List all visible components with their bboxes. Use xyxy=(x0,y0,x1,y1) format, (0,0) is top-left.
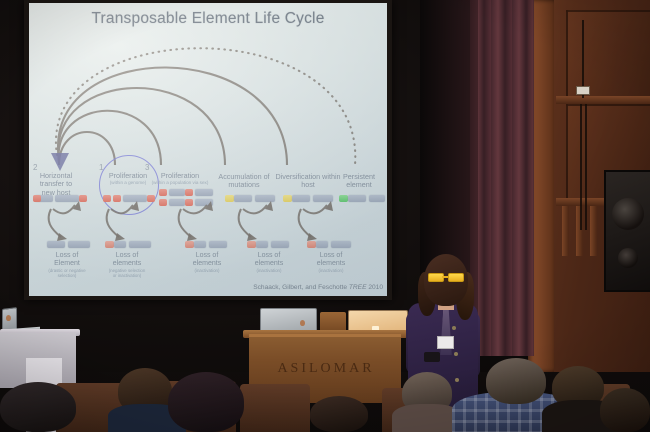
projection-screen: Transposable Element Life Cycle 2 Horizo… xyxy=(29,3,387,296)
podium-venue-name: ASILOMAR xyxy=(262,354,390,384)
audience-head xyxy=(600,388,650,432)
chromosome-bar xyxy=(316,241,328,248)
speaker-tweeter-icon xyxy=(618,248,638,268)
hanging-cable-3 xyxy=(585,104,587,230)
outcome-title: Loss of elements xyxy=(175,252,239,268)
audience-chair xyxy=(240,384,310,432)
te-element-inactive xyxy=(247,241,256,248)
te-element-inactive xyxy=(185,241,194,248)
wall-junction-box xyxy=(576,86,590,95)
chromosome-bar xyxy=(271,241,289,248)
blazer-button-3 xyxy=(455,378,459,382)
wall-rail-upper xyxy=(556,96,650,104)
chromosome-bar xyxy=(256,241,268,248)
outcome-sub: (inactivation) xyxy=(237,268,301,273)
outcome-label-1: Loss of Element (drastic or negative sel… xyxy=(35,252,99,278)
blazer-button-1 xyxy=(452,326,456,330)
outcome-label-3: Loss of elements (inactivation) xyxy=(175,252,239,273)
wall-slat-1 xyxy=(562,206,569,256)
chromosome-bar xyxy=(331,241,351,248)
outcome-label-2: Loss of elements (negative selection or … xyxy=(95,252,159,278)
outcome-title: Loss of elements xyxy=(299,252,363,268)
outcome-sub: (negative selection or inactivation) xyxy=(95,268,159,278)
loudspeaker-cabinet xyxy=(604,170,650,292)
chromosome-bar xyxy=(47,241,65,248)
chromosome-bar xyxy=(129,241,151,248)
outcome-title: Loss of elements xyxy=(95,252,159,268)
blazer-button-2 xyxy=(454,352,458,356)
glasses-bridge xyxy=(442,276,448,278)
stage-curtain xyxy=(470,0,534,356)
citation-authors: Schaack, Gilbert, and Feschotte xyxy=(253,284,349,291)
chromosome-bar xyxy=(68,241,90,248)
audience-head xyxy=(0,382,76,432)
presenter-glasses-icon xyxy=(428,273,464,280)
outcome-sub: (inactivation) xyxy=(299,268,363,273)
chromosome-bar xyxy=(194,241,206,248)
te-element-inactive xyxy=(307,241,316,248)
presentation-photo: Transposable Element Life Cycle 2 Horizo… xyxy=(0,0,650,432)
chromosome-bar xyxy=(114,241,126,248)
wall-slat-3 xyxy=(590,206,597,256)
apple-logo-icon xyxy=(300,320,305,326)
presentation-clicker xyxy=(424,352,440,362)
outcome-label-4: Loss of elements (inactivation) xyxy=(237,252,301,273)
te-element-inactive xyxy=(105,241,114,248)
speaker-woofer-icon xyxy=(612,198,644,230)
outcome-title: Loss of elements xyxy=(237,252,301,268)
audience-head xyxy=(168,372,244,432)
outcome-sub: (drastic or negative selection) xyxy=(35,268,99,278)
slide-citation: Schaack, Gilbert, and Feschotte TREE 201… xyxy=(227,284,383,291)
apple-logo-icon xyxy=(6,315,11,321)
chromosome-bar xyxy=(209,241,227,248)
presenter-name-badge xyxy=(437,336,454,349)
audience-head xyxy=(310,396,368,432)
citation-year: 2010 xyxy=(366,284,383,291)
hanging-cable-2 xyxy=(580,104,582,230)
citation-journal: TREE xyxy=(349,284,367,291)
outcome-title: Loss of Element xyxy=(35,252,99,268)
audience-head xyxy=(486,358,546,404)
outcome-sub: (inactivation) xyxy=(175,268,239,273)
outcome-label-5: Loss of elements (inactivation) xyxy=(299,252,363,273)
glasses-lens-right xyxy=(448,273,464,282)
